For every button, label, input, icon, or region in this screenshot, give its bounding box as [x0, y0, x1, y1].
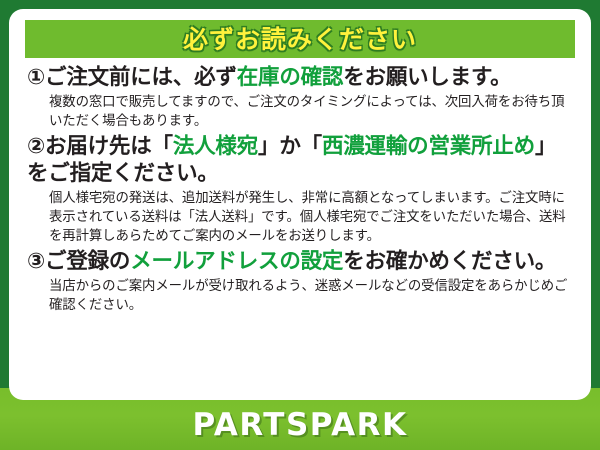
item-3-heading-part-2: をお確かめください。 [343, 249, 556, 274]
item-2-body: 個人様宅宛の発送は、追加送料が発生し、非常に高額となってしまいます。ご注文時に表… [27, 189, 573, 246]
item-3-body: 当店からのご案内メールが受け取れるよう、迷惑メールなどの受信設定をあらかじめご確… [27, 277, 573, 315]
footer-logo-area: PARTSPARK [0, 400, 600, 450]
notice-banner: 必ずお読みください [25, 20, 575, 58]
item-2-heading-part-0: お届け先は「 [45, 134, 173, 159]
item-3-heading-part-0: ご登録の [45, 249, 130, 274]
notice-white-card: 必ずお読みください ①ご注文前には、必ず在庫の確認をお願いします。 複数の窓口で… [9, 9, 591, 400]
brand-logo: PARTSPARK [192, 407, 407, 443]
notice-item-3: ③ご登録のメールアドレスの設定をお確かめください。 当店からのご案内メールが受け… [27, 249, 573, 315]
notice-card: 必ずお読みください ①ご注文前には、必ず在庫の確認をお願いします。 複数の窓口で… [0, 0, 600, 450]
item-2-heading-highlight-2: 西濃運輸の営業所止め [322, 134, 535, 159]
item-3-heading-highlight: メールアドレスの設定 [130, 249, 343, 274]
notice-body: ①ご注文前には、必ず在庫の確認をお願いします。 複数の窓口で販売してますので、ご… [25, 58, 575, 315]
banner-title: 必ずお読みください [183, 27, 417, 52]
item-2-heading-part-2: 」か「 [258, 134, 322, 159]
notice-item-2: ②お届け先は「法人様宛」か「西濃運輸の営業所止め」をご指定ください。 個人様宅宛… [27, 134, 573, 246]
item-1-heading: ①ご注文前には、必ず在庫の確認をお願いします。 [27, 65, 573, 91]
notice-item-1: ①ご注文前には、必ず在庫の確認をお願いします。 複数の窓口で販売してますので、ご… [27, 65, 573, 131]
item-3-marker: ③ [27, 249, 45, 274]
item-1-heading-highlight: 在庫の確認 [237, 65, 344, 90]
item-2-heading-highlight-1: 法人様宛 [173, 134, 258, 159]
item-3-heading: ③ご登録のメールアドレスの設定をお確かめください。 [27, 249, 573, 275]
item-2-heading: ②お届け先は「法人様宛」か「西濃運輸の営業所止め」をご指定ください。 [27, 134, 573, 186]
item-1-heading-part-0: ご注文前には、必ず [45, 65, 237, 90]
item-1-marker: ① [27, 65, 45, 90]
item-2-marker: ② [27, 134, 45, 159]
item-1-heading-part-2: をお願いします。 [343, 65, 511, 90]
item-1-body: 複数の窓口で販売してますので、ご注文のタイミングによっては、次回入荷をお待ち頂い… [27, 93, 573, 131]
